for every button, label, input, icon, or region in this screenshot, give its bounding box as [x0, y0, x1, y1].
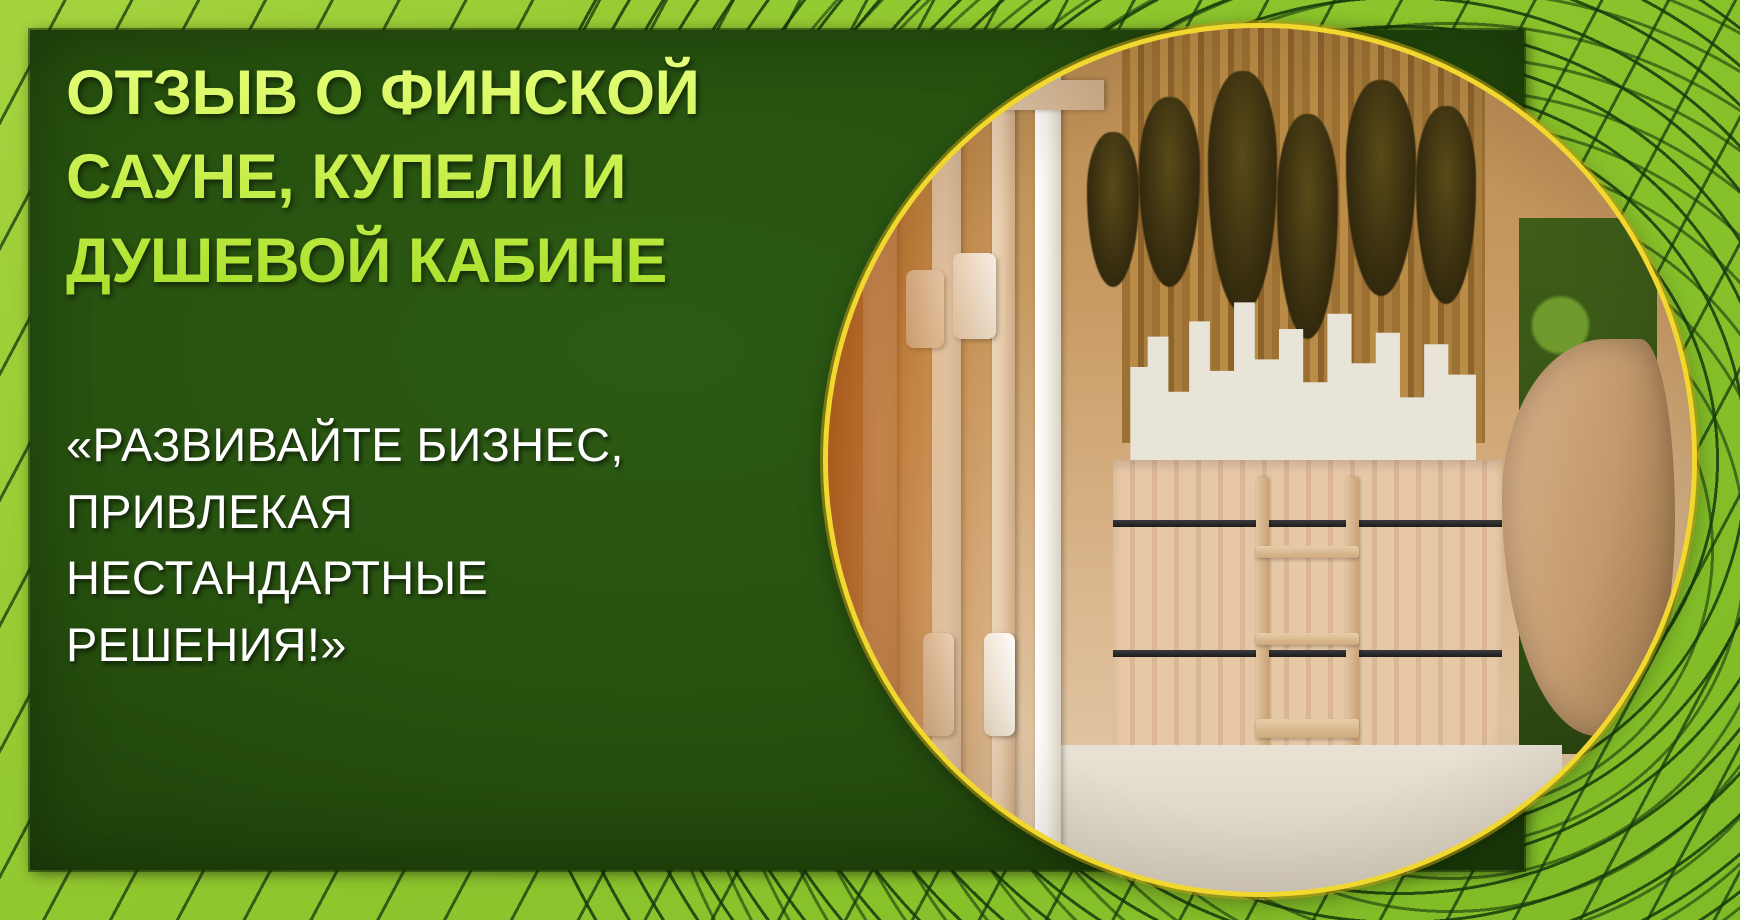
banner-title: ОТЗЫВ О ФИНСКОЙ САУНЕ, КУПЕЛИ И ДУШЕВОЙ … [66, 52, 786, 303]
photo-vignette [828, 28, 1692, 892]
circular-photo-frame [828, 28, 1692, 892]
banner-subtitle-quote: «РАЗВИВАЙТЕ БИЗНЕС, ПРИВЛЕКАЯ НЕСТАНДАРТ… [66, 412, 766, 679]
sauna-photo [828, 28, 1692, 892]
banner-root: ОТЗЫВ О ФИНСКОЙ САУНЕ, КУПЕЛИ И ДУШЕВОЙ … [0, 0, 1740, 920]
